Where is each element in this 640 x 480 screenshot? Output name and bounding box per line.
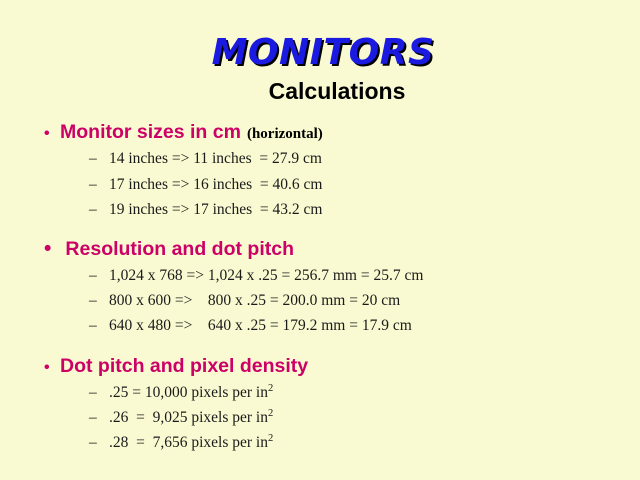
list-item-label: 1,024 x 768 => 1,024 x .25 = 256.7 mm = … xyxy=(109,263,423,288)
dash-bullet-icon: – xyxy=(89,146,109,171)
dash-bullet-icon: – xyxy=(89,288,109,313)
title-block: MONITORS Calculations xyxy=(0,0,640,104)
list-item-label: 19 inches => 17 inches = 43.2 cm xyxy=(109,197,322,222)
page-title: MONITORS xyxy=(0,34,640,72)
list-item-label: 14 inches => 11 inches = 27.9 cm xyxy=(109,146,322,171)
section-heading: • Dot pitch and pixel density xyxy=(44,354,626,378)
section-monitor-sizes: • Monitor sizes in cm (horizontal) – 14 … xyxy=(44,120,626,222)
list-item-label: 17 inches => 16 inches = 40.6 cm xyxy=(109,172,322,197)
sub-list: – 1,024 x 768 => 1,024 x .25 = 256.7 mm … xyxy=(44,263,626,338)
dash-bullet-icon: – xyxy=(89,172,109,197)
section-heading-label: Dot pitch and pixel density xyxy=(60,354,308,378)
slide-body: • Monitor sizes in cm (horizontal) – 14 … xyxy=(0,120,640,455)
dash-bullet-icon: – xyxy=(89,197,109,222)
list-item: – .28 = 7,656 pixels per in2 xyxy=(89,430,626,455)
section-resolution-dot-pitch: • Resolution and dot pitch – 1,024 x 768… xyxy=(44,237,626,339)
list-item: – .26 = 9,025 pixels per in2 xyxy=(89,405,626,430)
dash-bullet-icon: – xyxy=(89,405,109,430)
dash-bullet-icon: – xyxy=(89,380,109,405)
list-item-label: .28 = 7,656 pixels per in2 xyxy=(109,430,273,455)
sub-list: – .25 = 10,000 pixels per in2 – .26 = 9,… xyxy=(44,380,626,455)
list-item: – 800 x 600 => 800 x .25 = 200.0 mm = 20… xyxy=(89,288,626,313)
superscript: 2 xyxy=(268,408,273,419)
section-dot-pitch-pixel-density: • Dot pitch and pixel density – .25 = 10… xyxy=(44,354,626,456)
section-spacer xyxy=(44,224,626,237)
dash-bullet-icon: – xyxy=(89,313,109,338)
slide-canvas: MONITORS Calculations • Monitor sizes in… xyxy=(0,0,640,480)
list-item-label: .26 = 9,025 pixels per in2 xyxy=(109,405,273,430)
bullet-dot-icon: • xyxy=(44,360,60,376)
list-item-label: 800 x 600 => 800 x .25 = 200.0 mm = 20 c… xyxy=(109,288,400,313)
list-item: – 1,024 x 768 => 1,024 x .25 = 256.7 mm … xyxy=(89,263,626,288)
section-heading: • Monitor sizes in cm (horizontal) xyxy=(44,120,626,144)
page-subtitle: Calculations xyxy=(0,79,640,104)
section-spacer xyxy=(44,341,626,354)
list-item: – .25 = 10,000 pixels per in2 xyxy=(89,380,626,405)
section-heading: • Resolution and dot pitch xyxy=(44,237,626,261)
dash-bullet-icon: – xyxy=(89,263,109,288)
section-heading-label: Resolution and dot pitch xyxy=(60,237,294,261)
list-item: – 17 inches => 16 inches = 40.6 cm xyxy=(89,172,626,197)
list-item: – 640 x 480 => 640 x .25 = 179.2 mm = 17… xyxy=(89,313,626,338)
bullet-dot-icon: • xyxy=(44,126,60,142)
dash-bullet-icon: – xyxy=(89,430,109,455)
list-item-label: .25 = 10,000 pixels per in2 xyxy=(109,380,273,405)
superscript: 2 xyxy=(268,433,273,444)
list-item: – 19 inches => 17 inches = 43.2 cm xyxy=(89,197,626,222)
superscript: 2 xyxy=(268,383,273,394)
bullet-dot-icon: • xyxy=(44,238,60,259)
list-item: – 14 inches => 11 inches = 27.9 cm xyxy=(89,146,626,171)
section-heading-label: Monitor sizes in cm xyxy=(60,120,241,144)
sub-list: – 14 inches => 11 inches = 27.9 cm – 17 … xyxy=(44,146,626,221)
list-item-label: 640 x 480 => 640 x .25 = 179.2 mm = 17.9… xyxy=(109,313,412,338)
section-heading-note: (horizontal) xyxy=(247,125,323,144)
